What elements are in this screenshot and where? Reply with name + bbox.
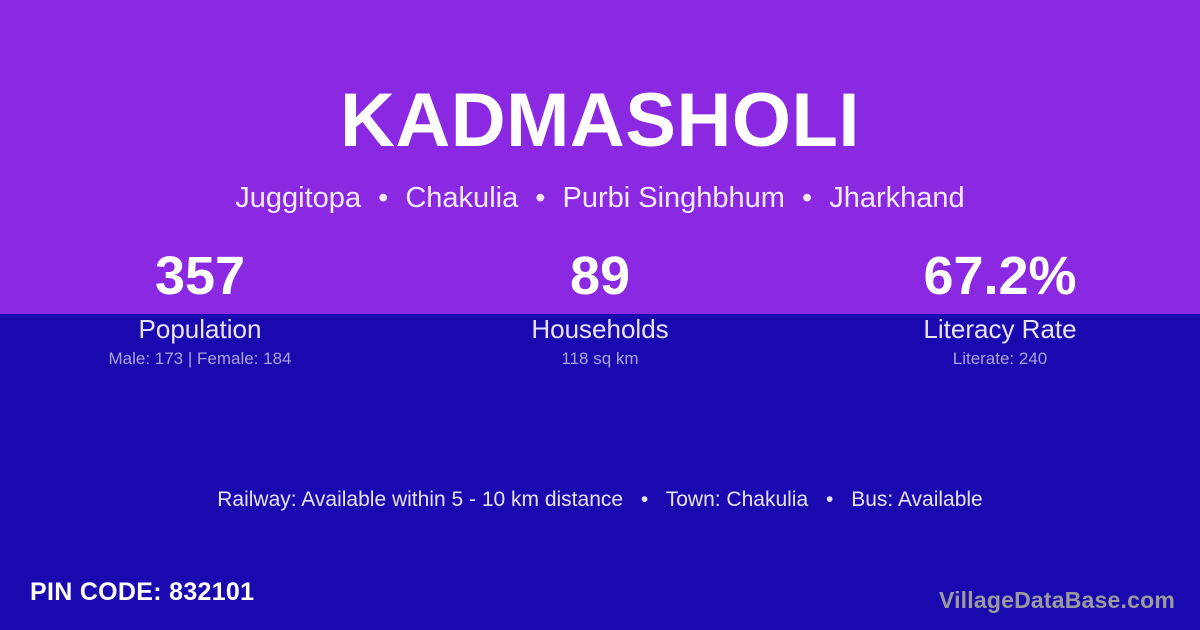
stat-literacy: 67.2% Literacy Rate Literate: 240 xyxy=(800,246,1200,386)
village-info-card: KADMASHOLI Juggitopa • Chakulia • Purbi … xyxy=(0,0,1200,630)
amenity-town: Town: Chakulia xyxy=(666,488,808,511)
stat-households-value: 89 xyxy=(400,246,800,306)
breadcrumb-separator-2: • xyxy=(526,183,554,213)
stat-literacy-count: Literate: 240 xyxy=(800,349,1200,369)
stat-population: 357 Population Male: 173 | Female: 184 xyxy=(0,246,400,386)
stats-row: 357 Population Male: 173 | Female: 184 8… xyxy=(0,246,1200,386)
page-title: KADMASHOLI xyxy=(0,83,1200,159)
amenities-bar: Railway: Available within 5 - 10 km dist… xyxy=(0,486,1200,514)
amenity-bus: Bus: Available xyxy=(851,488,983,511)
stat-households-area: 118 sq km xyxy=(400,349,800,369)
stat-literacy-value: 67.2% xyxy=(800,246,1200,306)
stat-population-value: 357 xyxy=(0,246,400,306)
breadcrumb-district: Purbi Singhbhum xyxy=(562,182,784,214)
site-brand-label: VillageDataBase.com xyxy=(939,586,1175,614)
stat-population-label: Population xyxy=(0,314,400,344)
breadcrumb-block: Chakulia xyxy=(405,182,518,214)
breadcrumb-state: Jharkhand xyxy=(829,182,964,214)
breadcrumb-separator-1: • xyxy=(369,183,397,213)
stat-households-label: Households xyxy=(400,314,800,344)
stat-population-breakdown: Male: 173 | Female: 184 xyxy=(0,349,400,369)
stat-households: 89 Households 118 sq km xyxy=(400,246,800,386)
breadcrumb-panchayat: Juggitopa xyxy=(235,182,361,214)
breadcrumb-separator-3: • xyxy=(793,183,821,213)
breadcrumb: Juggitopa • Chakulia • Purbi Singhbhum •… xyxy=(0,183,1200,213)
pin-code-label: PIN CODE: 832101 xyxy=(30,577,254,607)
amenity-railway: Railway: Available within 5 - 10 km dist… xyxy=(217,488,623,511)
amenity-separator-2: • xyxy=(814,486,845,514)
amenity-separator-1: • xyxy=(629,486,660,514)
stat-literacy-label: Literacy Rate xyxy=(800,314,1200,344)
